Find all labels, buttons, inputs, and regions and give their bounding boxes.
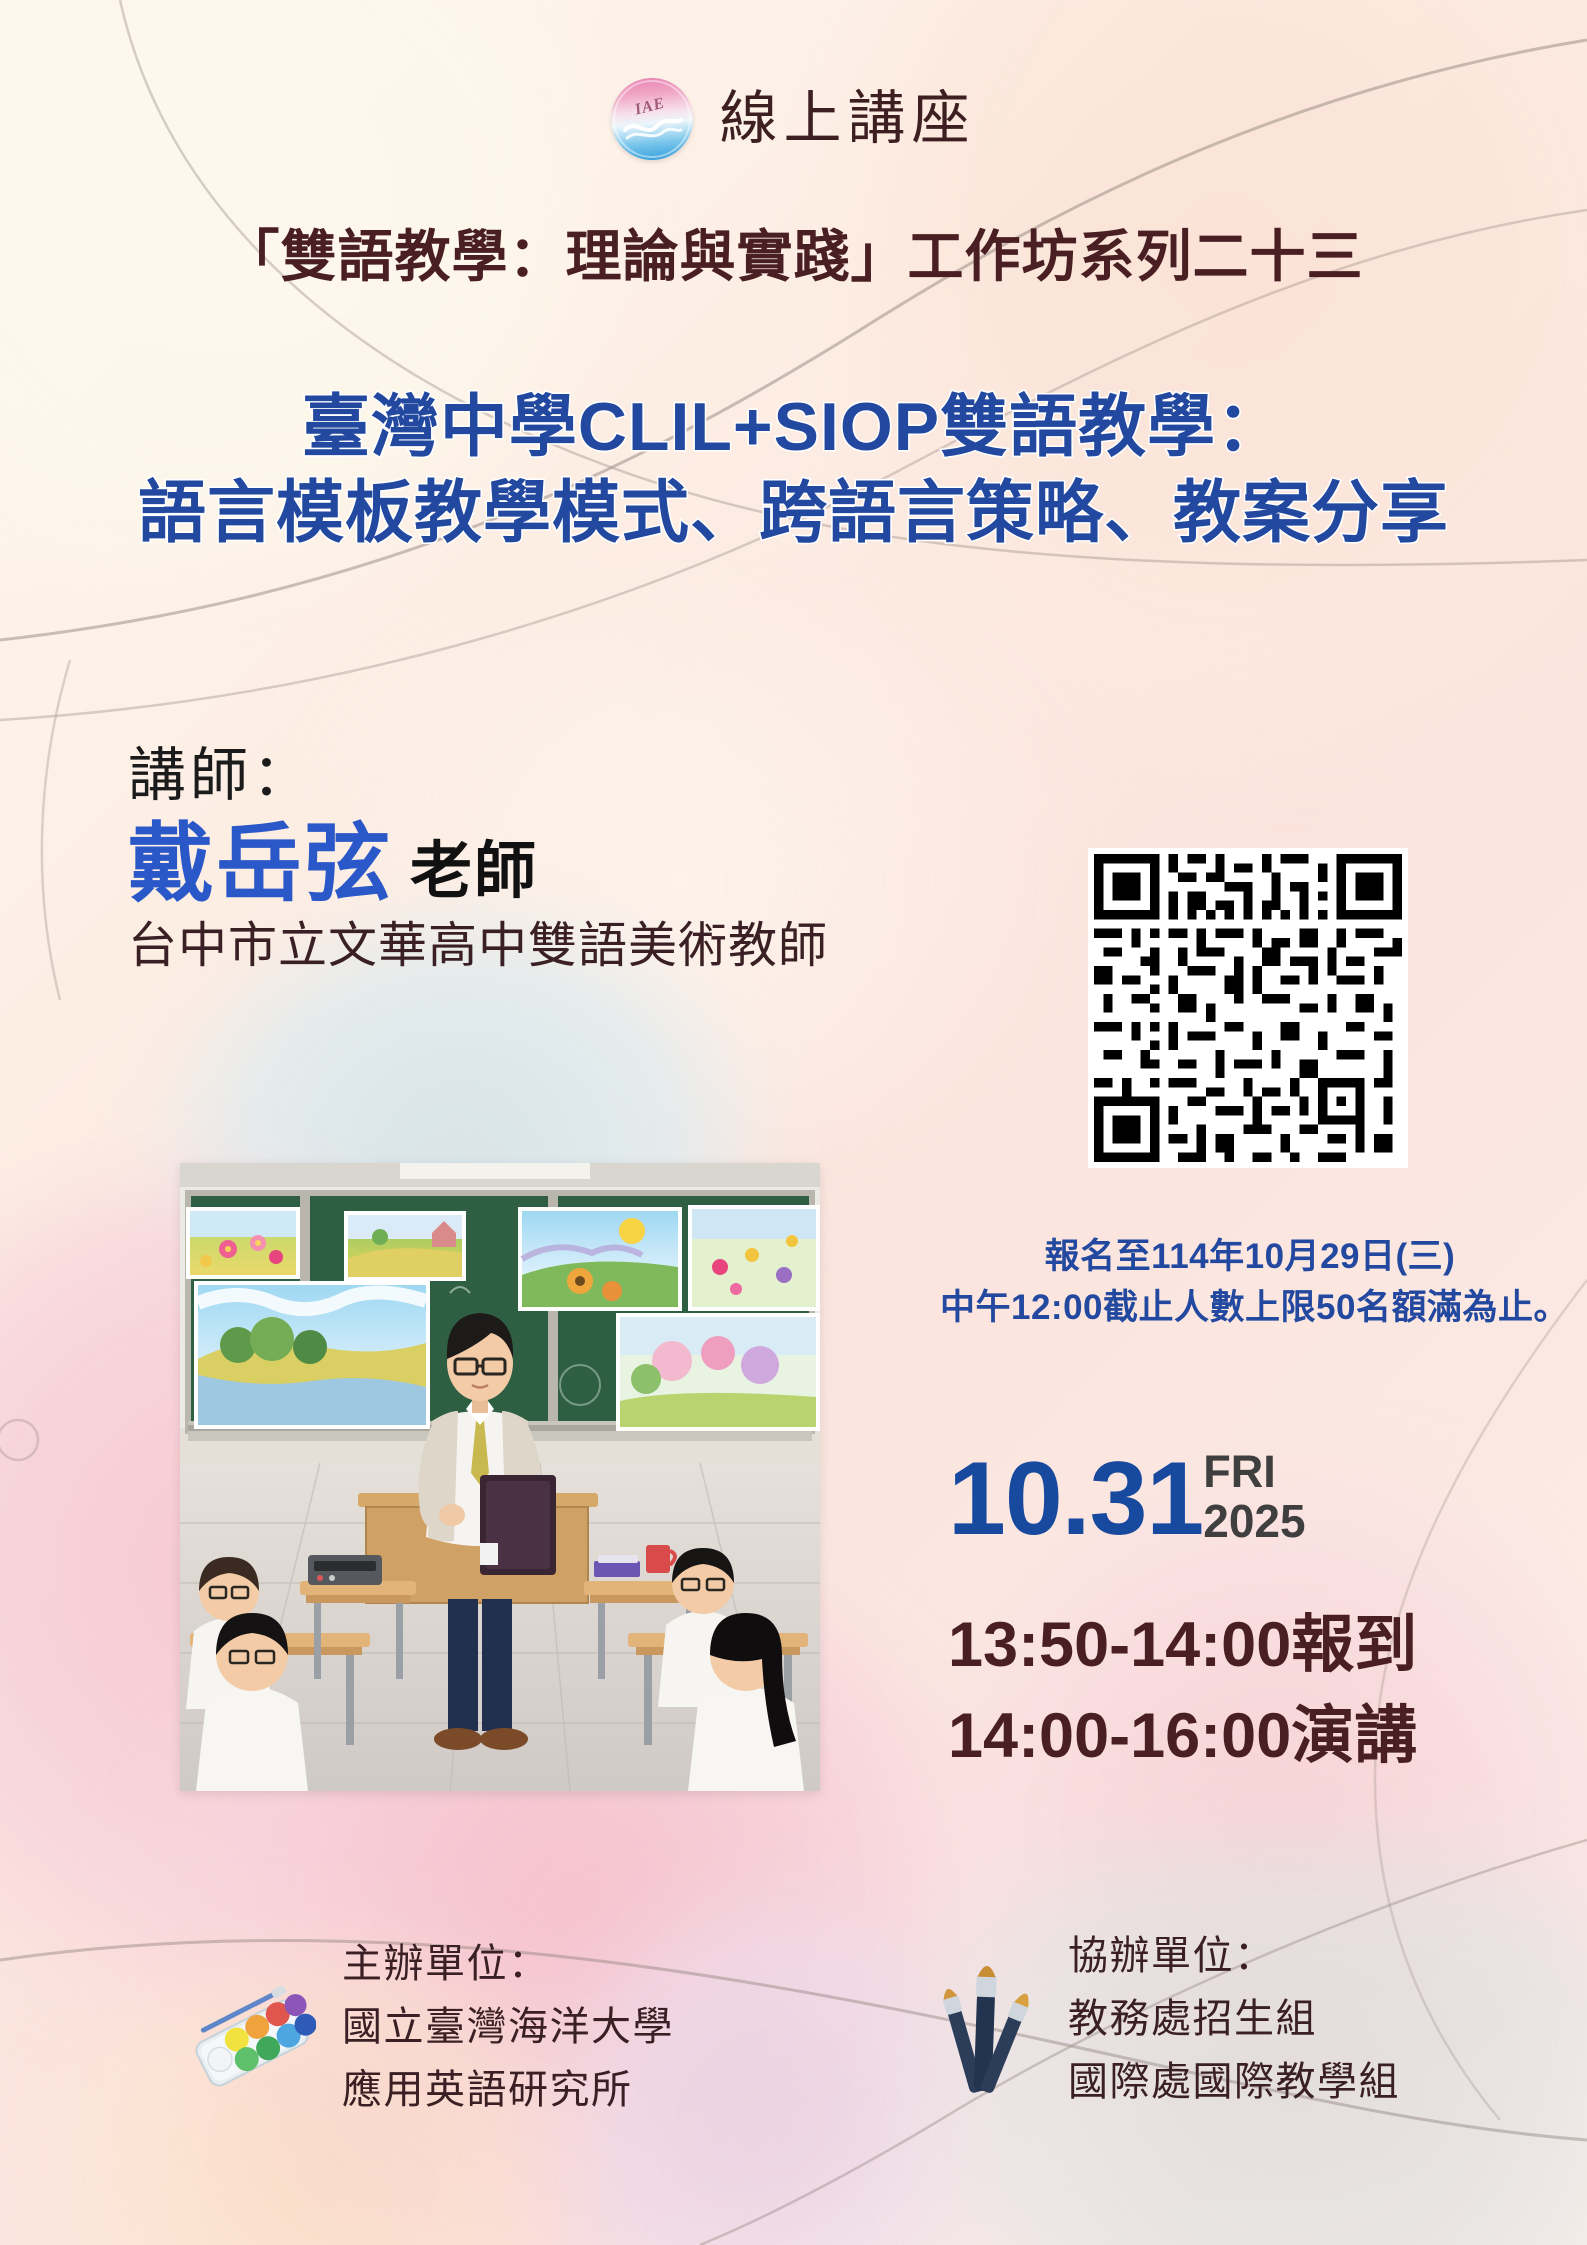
paint-brushes-icon [930,1949,1042,2099]
poster-footer: 主辦單位： 國立臺灣海洋大學 應用英語研究所 [0,1919,1587,2179]
speaker-role: 老師 [410,841,538,907]
speaker-name: 戴岳弦 [128,821,392,907]
coorg-org-1: 教務處招生組 [1068,1988,1400,2051]
main-title-line-1: 臺灣中學CLIL+SIOP雙語教學： [0,385,1587,471]
coorganizer-block: 協辦單位： 教務處招生組 國際處國際教學組 [930,1925,1400,2115]
qr-code-icon[interactable] [1094,854,1402,1162]
schedule-talk: 14:00-16:00演講 [948,1691,1417,1782]
header-title: 線上講座 [719,90,975,148]
host-org-1: 國立臺灣海洋大學 [342,1996,674,2059]
registration-deadline: 報名至114年10月29日(三) 中午12:00截止人數上限50名額滿為止。 [940,1232,1560,1334]
deadline-line-1: 報名至114年10月29日(三) [940,1232,1560,1283]
deadline-line-2: 中午12:00截止人數上限50名額滿為止。 [940,1283,1560,1334]
host-org-2: 應用英語研究所 [342,2059,674,2122]
event-schedule: 13:50-14:00報到 14:00-16:00演講 [948,1600,1417,1783]
poster-header: IAE 線上講座 [0,78,1587,160]
coorg-label: 協辦單位： [1068,1925,1400,1988]
main-title-line-2: 語言模板教學模式、跨語言策略、教案分享 [0,471,1587,557]
event-date: 10.31 FRI 2025 [948,1452,1306,1548]
iae-logo-icon: IAE [611,78,693,160]
coorganizer-text: 協辦單位： 教務處招生組 國際處國際教學組 [1068,1925,1400,2115]
host-label: 主辦單位： [342,1933,674,1996]
main-title: 臺灣中學CLIL+SIOP雙語教學： 語言模板教學模式、跨語言策略、教案分享 [0,385,1587,556]
wave-book-icon [623,108,683,142]
registration-qr-code[interactable] [1088,848,1408,1168]
speaker-label: 講師： [128,740,828,813]
host-organization-block: 主辦單位： 國立臺灣海洋大學 應用英語研究所 [188,1933,674,2123]
event-weekday: FRI [1203,1449,1305,1494]
event-year: 2025 [1203,1498,1305,1544]
classroom-teacher-illustration [180,1163,820,1791]
host-organization-text: 主辦單位： 國立臺灣海洋大學 應用英語研究所 [342,1933,674,2123]
coorg-org-2: 國際處國際教學組 [1068,2051,1400,2114]
speaker-affiliation: 台中市立文華高中雙語美術教師 [128,917,828,976]
workshop-series-label: 「雙語教學：理論與實踐」工作坊系列二十三 [0,212,1587,293]
event-date-side: FRI 2025 [1203,1499,1305,1548]
paint-palette-icon [188,1979,316,2107]
poster: IAE 線上講座 「雙語教學：理論與實踐」工作坊系列二十三 臺灣中學CLIL+S… [0,0,1587,2245]
speaker-block: 講師： 戴岳弦 老師 台中市立文華高中雙語美術教師 [128,740,828,975]
speaker-name-row: 戴岳弦 老師 [128,821,828,907]
event-date-day: 10.31 [948,1452,1203,1548]
schedule-checkin: 13:50-14:00報到 [948,1600,1417,1691]
